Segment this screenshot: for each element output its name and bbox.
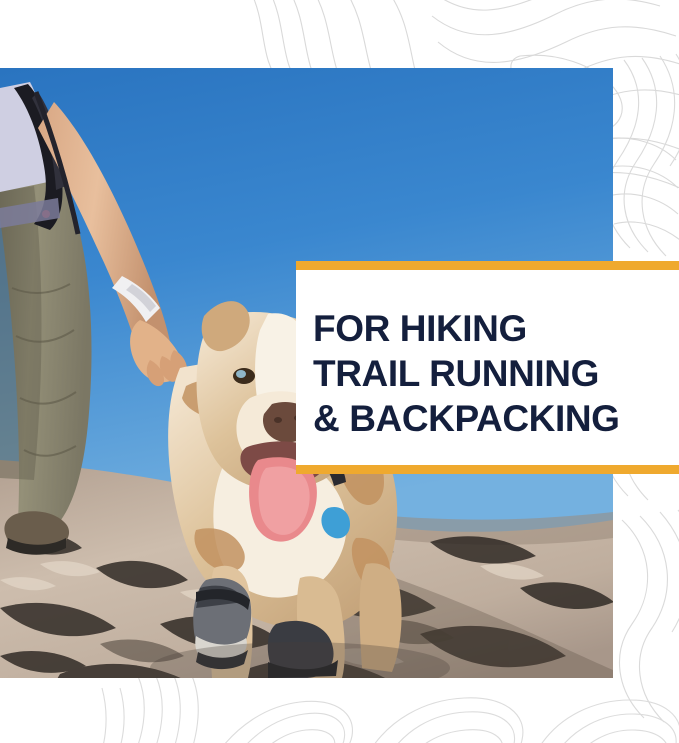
promo-banner: FOR HIKING TRAIL RUNNING & BACKPACKING [0, 0, 679, 743]
headline-line-1: FOR HIKING [313, 306, 673, 351]
accent-bar-top [296, 261, 679, 270]
promo-headline-card: FOR HIKING TRAIL RUNNING & BACKPACKING [296, 261, 679, 474]
accent-bar-bottom [296, 465, 679, 474]
headline-text: FOR HIKING TRAIL RUNNING & BACKPACKING [313, 306, 673, 441]
headline-line-3: & BACKPACKING [313, 396, 673, 441]
headline-line-2: TRAIL RUNNING [313, 351, 673, 396]
